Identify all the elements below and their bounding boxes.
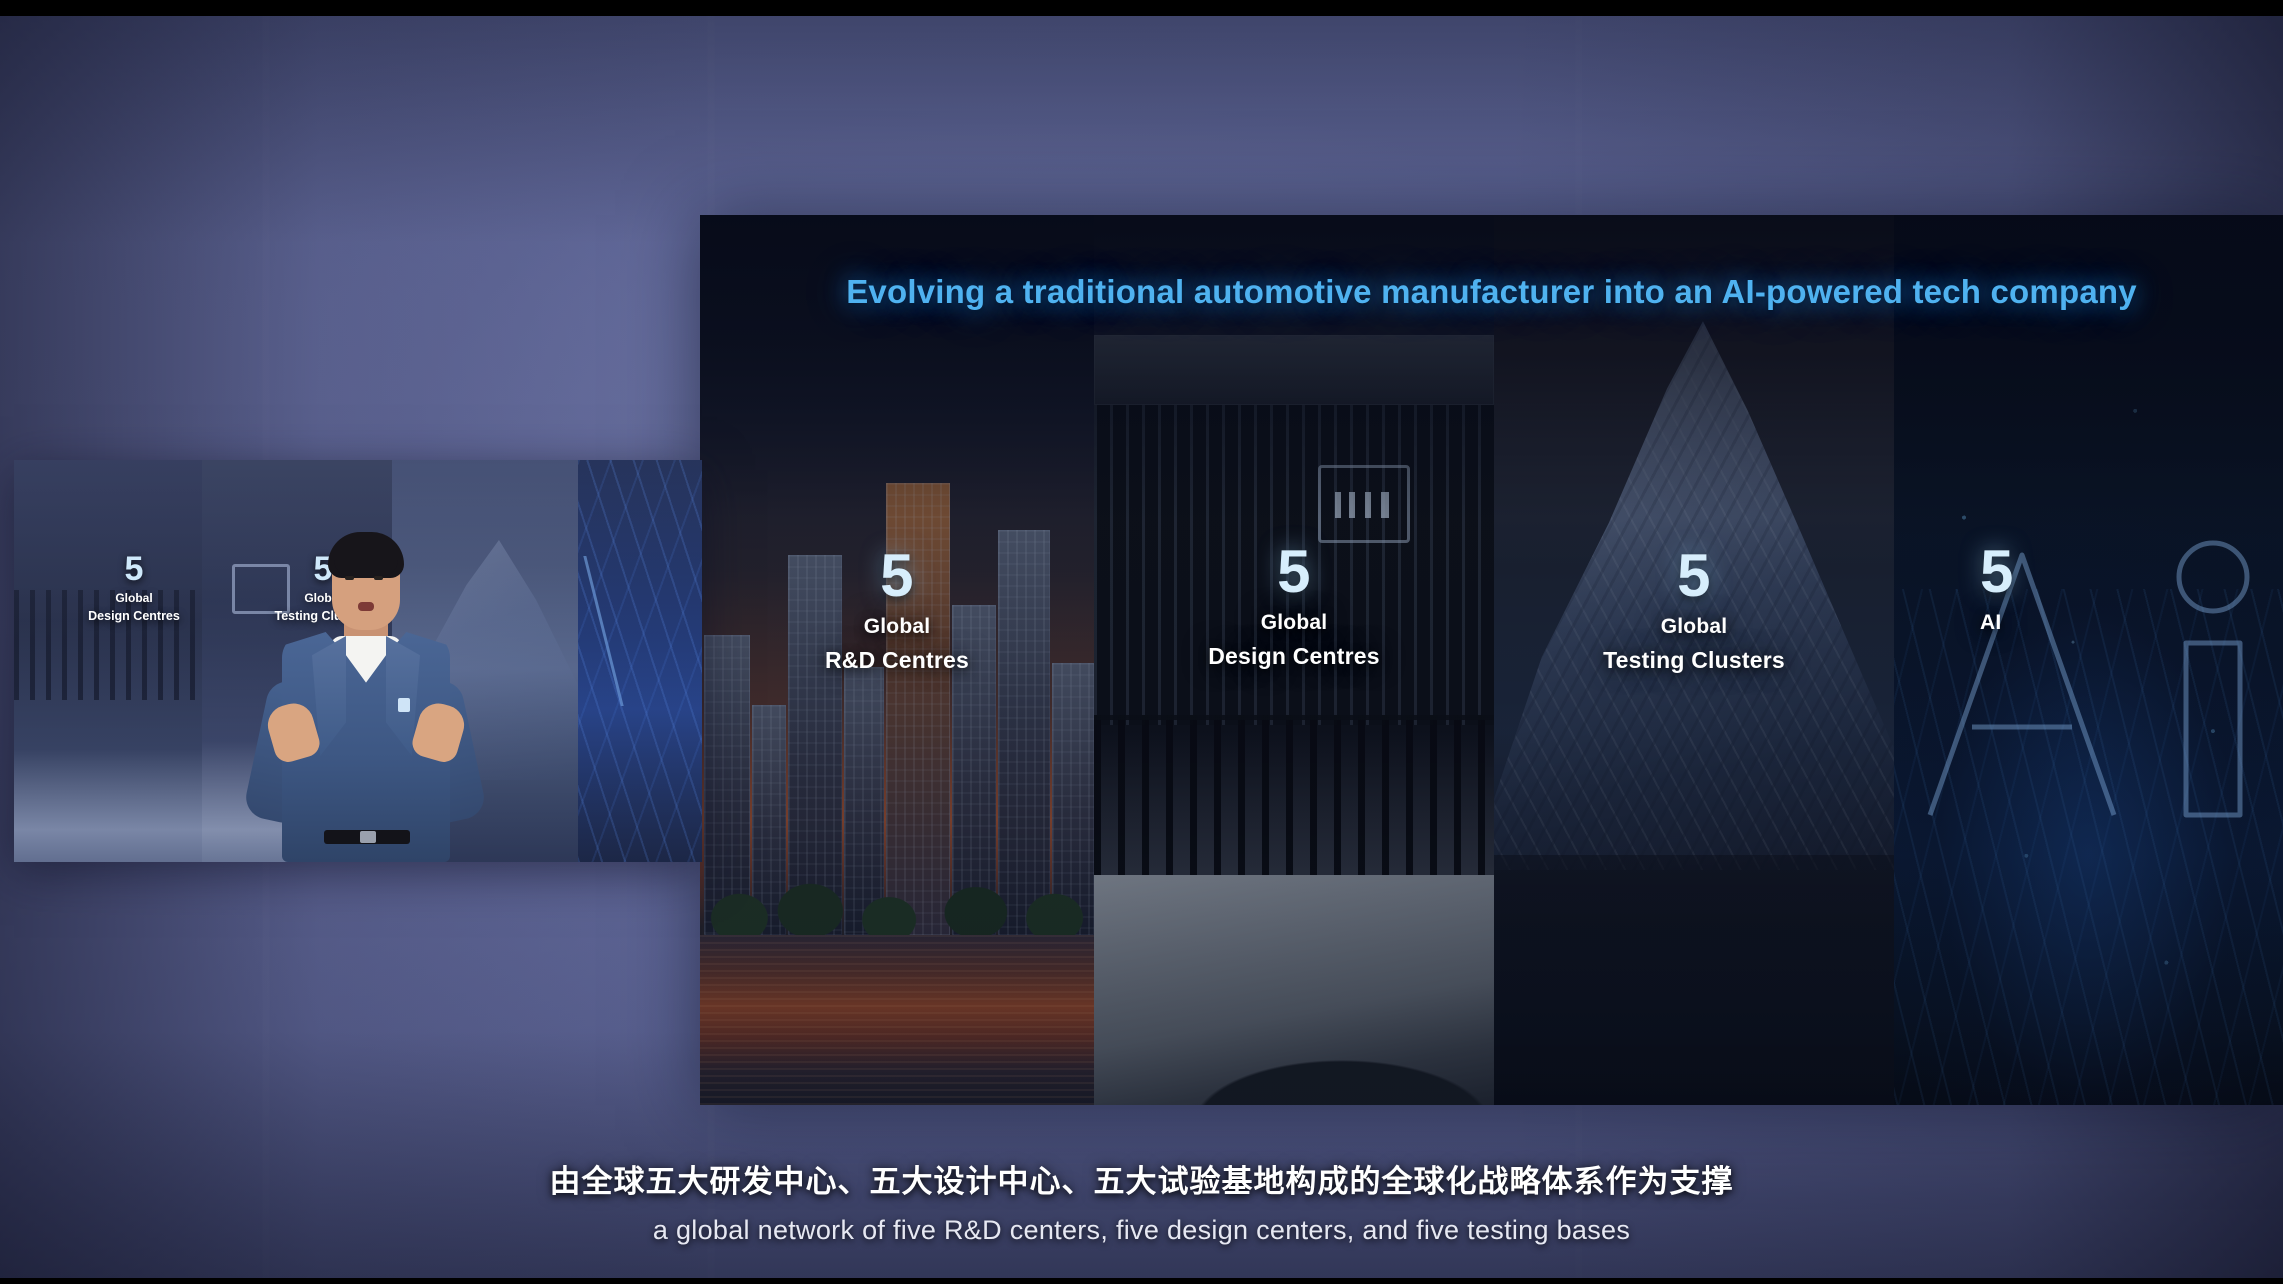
presentation-stage: 5 Global R&D Centres 5 Global <box>0 0 2283 1284</box>
stat-number: 5 <box>1494 545 1894 606</box>
subtitle-chinese: 由全球五大研发中心、五大设计中心、五大试验基地构成的全球化战略体系作为支撑 <box>0 1156 2283 1201</box>
subtitle-block: 由全球五大研发中心、五大设计中心、五大试验基地构成的全球化战略体系作为支撑 a … <box>0 1156 2283 1246</box>
mini-stat-design-centres: 5 Global Design Centres <box>40 552 228 623</box>
stat-line-2: Design Centres <box>1094 643 1494 670</box>
stat-block: 5 Global Design Centres <box>1094 541 1494 670</box>
stat-number: 5 <box>700 545 1094 606</box>
presenter-lapel-pin-icon <box>398 698 410 712</box>
presenter-eye-right <box>374 576 383 580</box>
main-slide-screen: 5 Global R&D Centres 5 Global <box>700 215 2283 1105</box>
mini-stat-line-2: Design Centres <box>40 609 228 623</box>
stat-card-design-centres[interactable]: 5 Global Design Centres <box>1094 215 1494 1105</box>
stat-card-testing-clusters[interactable]: 5 Global Testing Clusters <box>1494 215 1894 1105</box>
stat-number: 5 <box>1094 541 1494 602</box>
stat-line-2: Testing Clusters <box>1494 647 1894 674</box>
stat-block: 5 Global R&D Centres <box>700 545 1094 674</box>
slide-headline: Evolving a traditional automotive manufa… <box>700 273 2283 311</box>
letterbox-top <box>0 0 2283 16</box>
stat-line-2: R&D Centres <box>700 647 1094 674</box>
presenter-figure <box>246 532 486 862</box>
stat-card-rd-centres[interactable]: 5 Global R&D Centres <box>700 215 1094 1105</box>
subtitle-english: a global network of five R&D centers, fi… <box>0 1215 2283 1246</box>
presenter-video-pip[interactable]: 5 Global Design Centres 5 Global Testing… <box>14 460 702 862</box>
stat-line-1: Global <box>1094 611 1494 635</box>
stat-block: 5 Global Testing Clusters <box>1494 545 1894 674</box>
slide-card-row: 5 Global R&D Centres 5 Global <box>700 215 2283 1105</box>
mini-stat-line-1: Global <box>40 591 228 605</box>
presenter-eye-left <box>345 576 354 580</box>
letterbox-bottom <box>0 1278 2283 1284</box>
stat-line-1: Global <box>1494 615 1894 639</box>
presenter-hair <box>328 532 404 578</box>
card-scrim <box>1894 215 2283 1105</box>
presenter-belt <box>324 830 410 844</box>
stat-line-1: AI <box>1980 611 2200 635</box>
mini-stat-number: 5 <box>40 552 228 586</box>
stat-block: 5 AI <box>1980 541 2200 635</box>
stat-number: 5 <box>1980 541 2200 602</box>
stat-line-1: Global <box>700 615 1094 639</box>
presenter-mouth <box>358 602 374 611</box>
stat-card-ai[interactable]: 5 AI <box>1894 215 2283 1105</box>
